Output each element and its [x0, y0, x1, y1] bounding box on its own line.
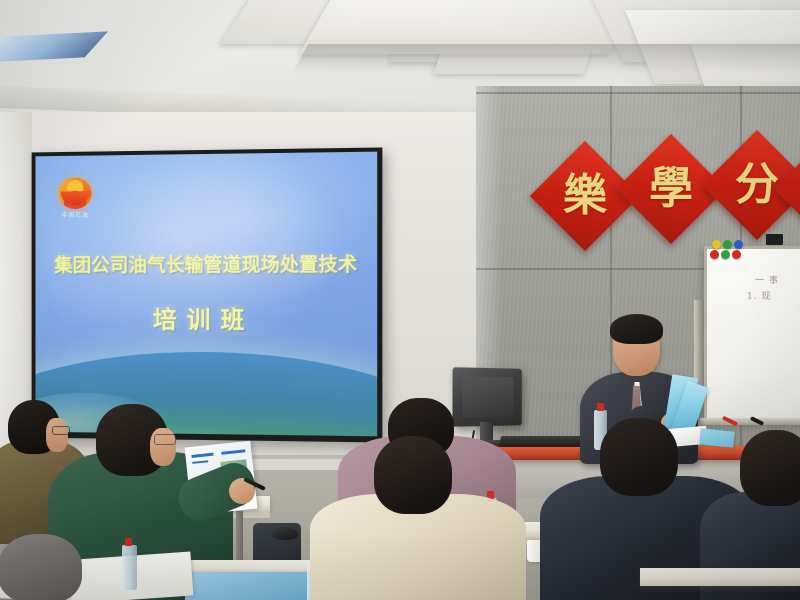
whiteboard-marker: [750, 416, 764, 426]
attendee-cream-jacket-head: [374, 436, 452, 514]
globe-graphic: [35, 351, 377, 437]
binder-clip-icon: [766, 234, 783, 245]
magnet-green-icon: [723, 240, 732, 249]
eyeglasses-icon: [52, 426, 70, 435]
attendee-face: [46, 418, 68, 452]
magnet-blue-icon: [734, 240, 743, 249]
cnpc-logo-caption: 中国石油: [55, 210, 96, 219]
projection-screen-frame: 中国石油 集团公司油气长输管道现场处置技术 培训班: [32, 147, 383, 442]
lcd-monitor-rear: [453, 367, 522, 426]
banner-character: 樂: [546, 157, 624, 235]
cnpc-sun-logo-icon: 中国石油: [55, 177, 96, 221]
whiteboard-handwriting: 一 事: [755, 273, 779, 286]
whiteboard-marker: [722, 416, 738, 427]
magnet-yellow-icon: [712, 240, 721, 249]
banner-character: 學: [632, 150, 710, 228]
ceiling-shadow: [292, 44, 800, 74]
cnpc-mark: [59, 177, 92, 209]
conference-room-photo: 樂 學 分 享 一 事 1. 现 中国石油 集团公司油气长输管道现场处置技术 培…: [0, 0, 800, 600]
table-leg: [236, 511, 243, 561]
projection-screen: 中国石油 集团公司油气长输管道现场处置技术 培训班: [35, 152, 377, 437]
blue-folder: [699, 428, 734, 447]
water-bottle: [122, 545, 137, 590]
attendee-dark-suit-right-head: [740, 430, 800, 506]
eyeglasses-icon: [154, 434, 176, 445]
presenter-hair: [610, 314, 663, 344]
computer-mouse: [272, 527, 298, 540]
whiteboard-marker-tray: [700, 418, 800, 425]
magnet-green-icon: [721, 250, 730, 259]
stone-seam: [476, 92, 800, 94]
banner-character: 享: [790, 150, 800, 228]
magnet-red-icon: [710, 250, 719, 259]
front-table: [640, 568, 800, 586]
attendee-gray-head: [0, 534, 82, 600]
magnet-red-icon: [732, 250, 741, 259]
blue-folder: [185, 572, 317, 600]
attendee-dark-suit-center-head: [600, 418, 678, 496]
slide-subtitle: 培训班: [35, 300, 377, 336]
whiteboard-handwriting: 1. 现: [747, 289, 771, 302]
slide-title: 集团公司油气长输管道现场处置技术: [35, 249, 377, 277]
whiteboard: 一 事 1. 现: [704, 246, 800, 424]
